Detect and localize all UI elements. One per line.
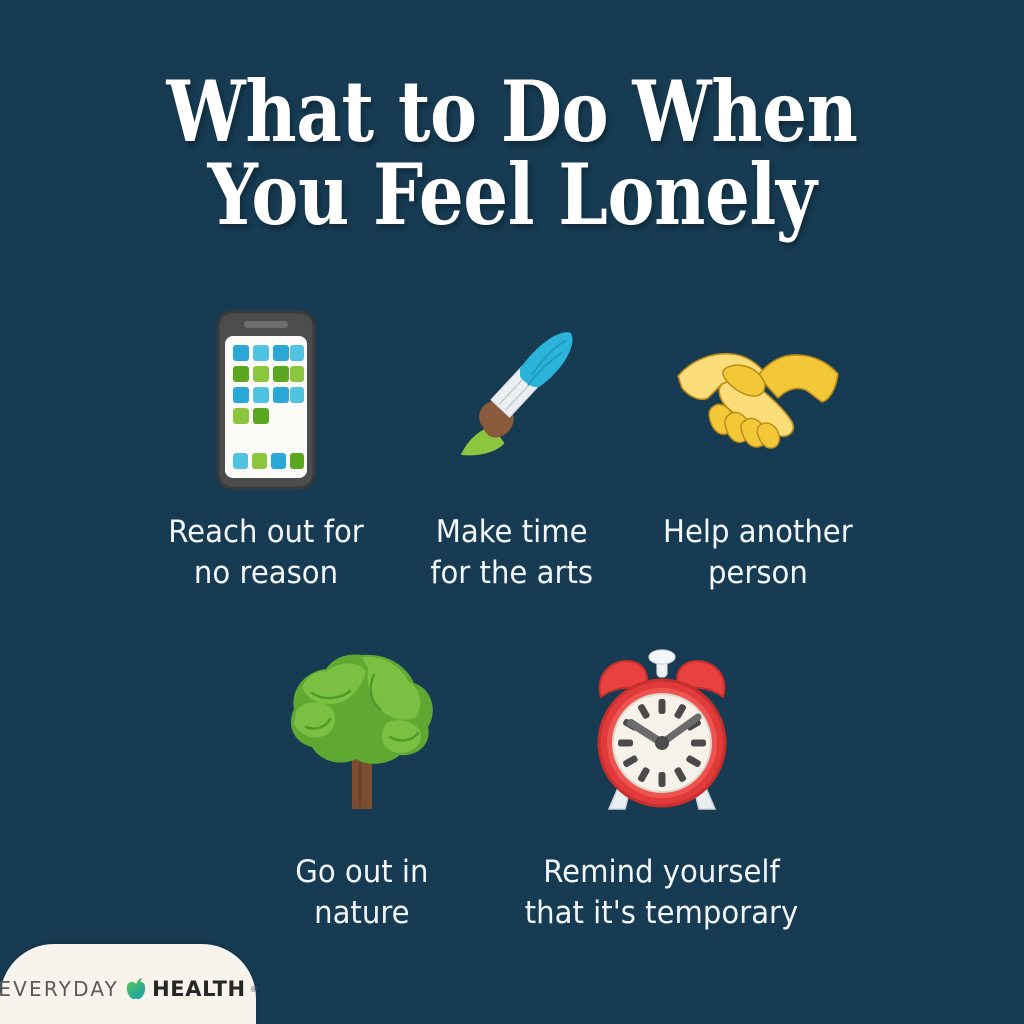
- tip-caption: Help another person: [663, 512, 853, 594]
- brand-word-everyday: EVERYDAY: [0, 977, 119, 1001]
- tip-caption: Go out in nature: [295, 852, 428, 934]
- paintbrush-icon: [437, 300, 587, 500]
- tip-caption: Remind yourself that it's temporary: [525, 852, 799, 934]
- title-line-2: You Feel Lonely: [82, 155, 942, 236]
- tip-card-nature: Go out in nature: [212, 636, 512, 934]
- tip-caption: Reach out for no reason: [168, 512, 364, 594]
- registered-trademark-mark: ®: [250, 985, 258, 994]
- alarm-clock-icon: [579, 636, 745, 834]
- title-line-1: What to Do When: [82, 72, 942, 153]
- handshake-icon: [674, 300, 842, 500]
- apple-icon: [125, 977, 147, 1001]
- brand-logo: EVERYDAY HEALTH ®: [0, 977, 258, 1001]
- tip-card-reach-out: Reach out for no reason: [143, 300, 389, 594]
- brand-logo-panel: EVERYDAY HEALTH ®: [0, 944, 256, 1024]
- tip-card-arts: Make time for the arts: [389, 300, 635, 594]
- page-title: What to Do When You Feel Lonely: [0, 72, 1024, 235]
- tip-caption: Make time for the arts: [431, 512, 594, 594]
- brand-word-health: HEALTH: [152, 977, 246, 1001]
- tree-icon: [282, 636, 442, 834]
- tip-card-help-person: Help another person: [635, 300, 881, 594]
- infographic-canvas: What to Do When You Feel Lonely: [0, 0, 1024, 1024]
- tips-row-top: Reach out for no reason: [0, 300, 1024, 594]
- tips-row-bottom: Go out in nature: [0, 636, 1024, 934]
- smartphone-icon: [214, 300, 318, 500]
- tip-card-temporary: Remind yourself that it's temporary: [512, 636, 812, 934]
